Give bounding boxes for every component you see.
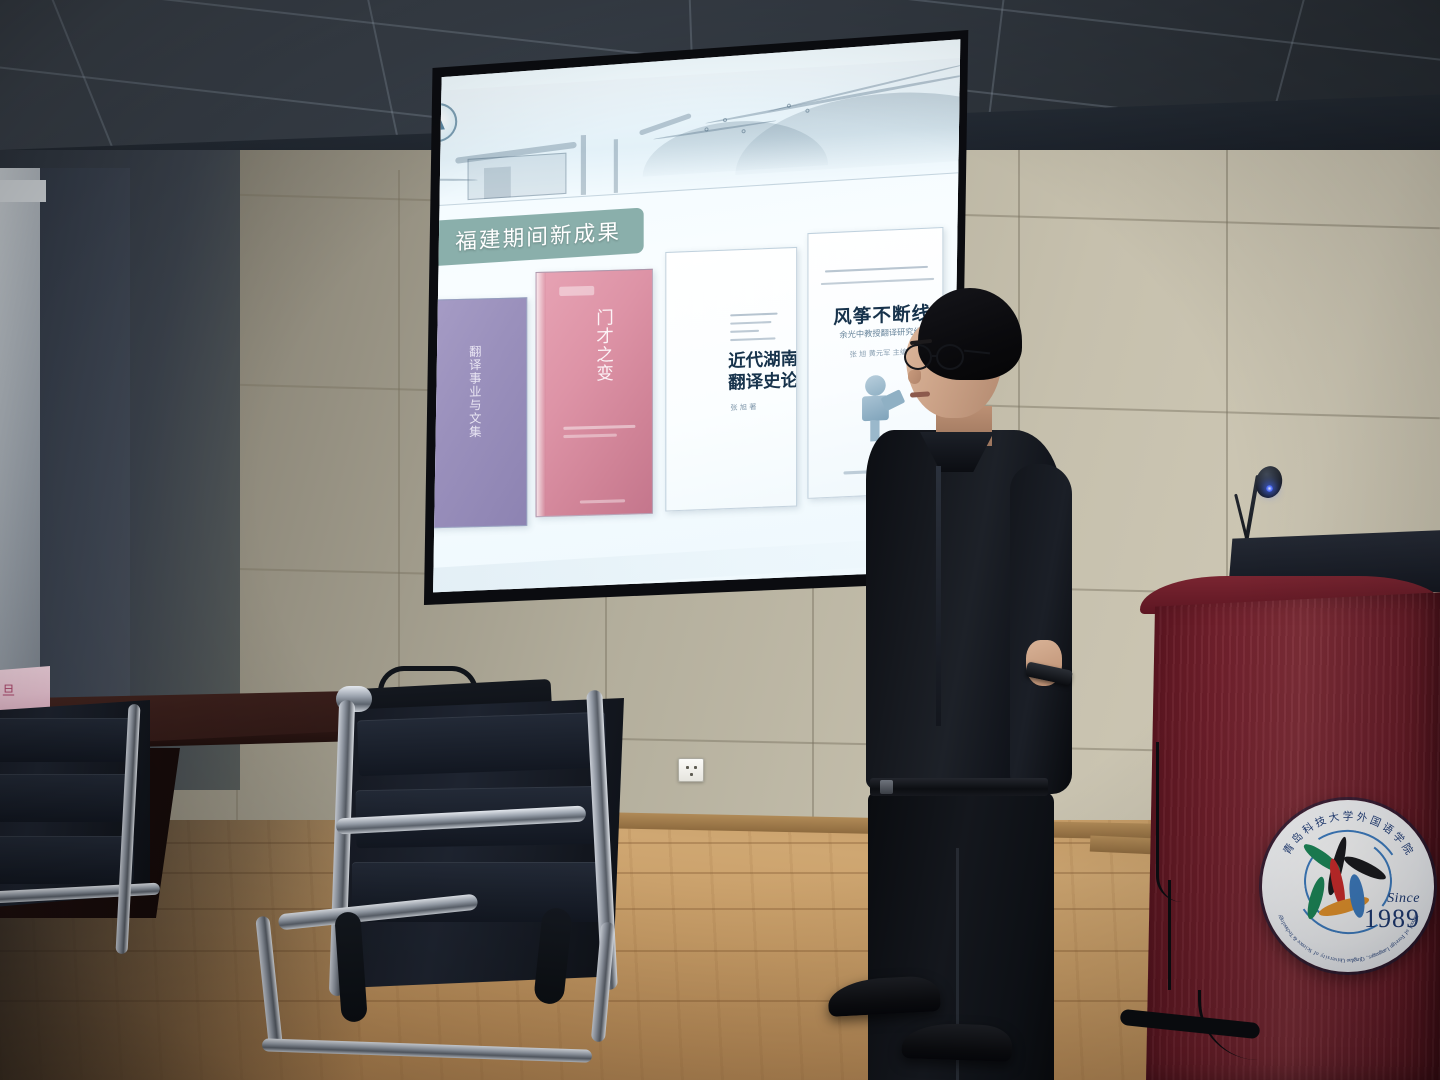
chair-cushion xyxy=(0,774,134,822)
wall-outlet-left[interactable] xyxy=(678,758,704,782)
logo-since-year: 1989 xyxy=(1364,906,1420,932)
presenter-shirt-placket xyxy=(936,466,941,726)
slide-header-artwork xyxy=(404,56,974,208)
presenter-belt-buckle xyxy=(880,780,893,794)
presenter-arm xyxy=(1010,464,1072,794)
book-title-2: 门才之变 xyxy=(590,308,616,383)
chair-cushion xyxy=(0,718,134,762)
book-title-1: 翻译事业与文集 xyxy=(467,345,485,439)
eyeglasses-icon xyxy=(902,344,998,374)
chair-foreground[interactable] xyxy=(166,672,636,1080)
window-frame xyxy=(0,168,40,728)
conference-room-scene: 福建期间新成果 翻译事业与文集 门才之变 xyxy=(0,0,1440,1080)
logo-ring-text: 青岛科技大学外国语学院School of Foreign Languages, … xyxy=(1262,800,1434,972)
book-cover-3: 近代湖南翻译史论 张 旭 著 xyxy=(665,247,797,512)
slide-title: 福建期间新成果 xyxy=(433,208,644,267)
presenter-belt xyxy=(870,778,1048,796)
presenter-shoe-left xyxy=(827,975,941,1017)
window-sill xyxy=(0,180,46,202)
chair-cushion xyxy=(357,712,607,777)
name-card-text: 旦 xyxy=(2,680,15,699)
university-logo-emblem: 青岛科技大学外国语学院School of Foreign Languages, … xyxy=(1262,800,1434,972)
book-cover-2: 门才之变 xyxy=(536,269,653,517)
logo-since-block: Since 1989 xyxy=(1364,892,1420,932)
book-title-3: 近代湖南翻译史论 xyxy=(728,349,797,396)
chair-base-rail xyxy=(262,1038,592,1063)
book-author-3: 张 旭 著 xyxy=(730,402,756,413)
microphone-led-indicator xyxy=(1266,485,1273,492)
presenter xyxy=(840,288,1100,1080)
podium-cable-1 xyxy=(1156,742,1182,902)
chair-cushion xyxy=(0,836,134,884)
book-publisher-mark-2 xyxy=(559,286,594,296)
book-spine xyxy=(537,273,546,516)
chair-leg-left xyxy=(255,916,283,1047)
chair-background[interactable] xyxy=(0,700,190,1030)
